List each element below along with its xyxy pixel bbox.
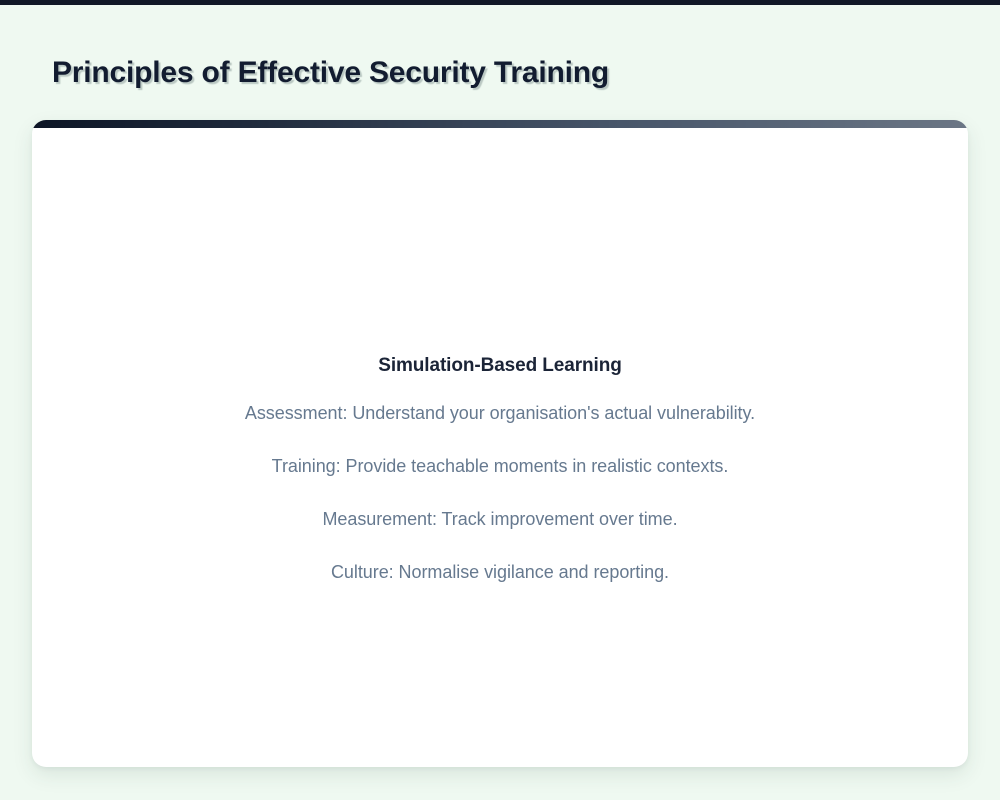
top-accent-strip [0, 0, 1000, 5]
slide-card: Simulation-Based Learning Assessment: Un… [32, 120, 968, 767]
list-item: Assessment: Understand your organisation… [32, 387, 968, 440]
list-item: Measurement: Track improvement over time… [32, 493, 968, 546]
slide-heading: Simulation-Based Learning [32, 355, 968, 377]
card-accent-bar [32, 120, 968, 128]
list-item: Culture: Normalise vigilance and reporti… [32, 546, 968, 599]
list-item: Training: Provide teachable moments in r… [32, 440, 968, 493]
card-body: Simulation-Based Learning Assessment: Un… [32, 128, 968, 767]
slide-content: Simulation-Based Learning Assessment: Un… [32, 355, 968, 599]
page-title: Principles of Effective Security Trainin… [52, 56, 609, 90]
